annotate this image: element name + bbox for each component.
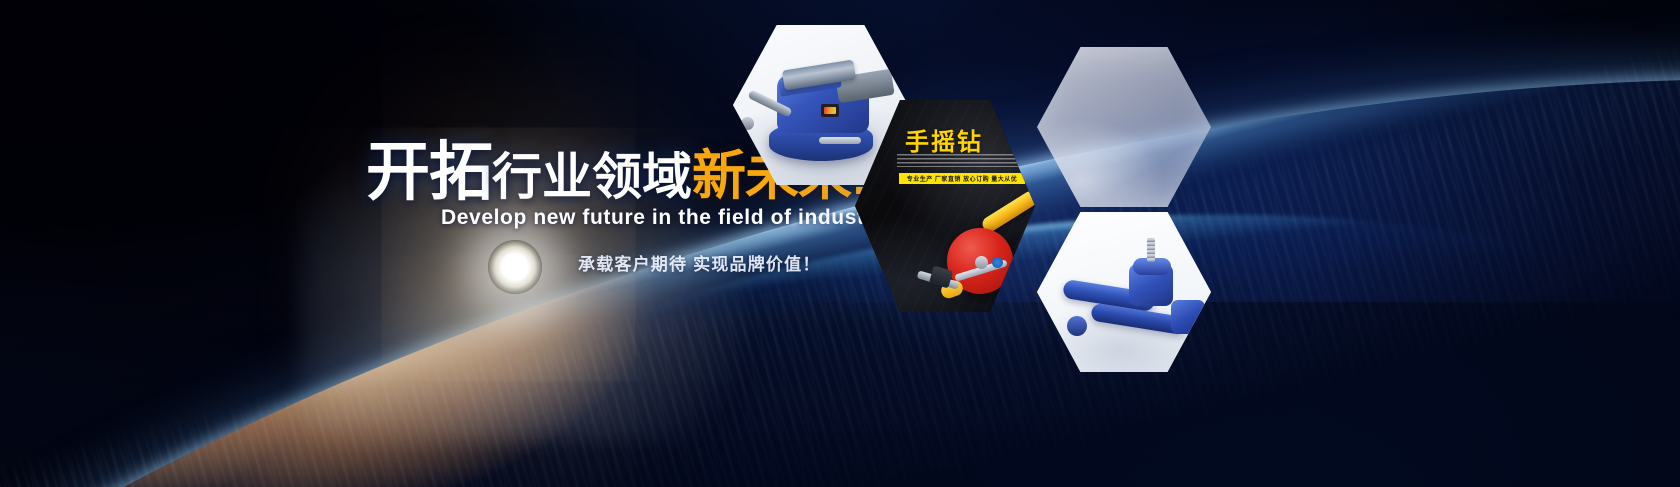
product-description-lines — [897, 154, 1019, 167]
vise-brand-label — [821, 104, 839, 117]
drill-badge-icon — [992, 257, 1003, 268]
headline-part-big: 开拓 — [366, 136, 492, 208]
vise-screw — [819, 137, 861, 144]
subtitle: Develop new future in the field of indus… — [441, 206, 886, 230]
clamp-bolt — [1147, 238, 1155, 262]
clamp-pivot — [1067, 316, 1087, 336]
drill-hub — [975, 256, 988, 269]
tagline: 承载客户期待 实现品牌价值！ — [578, 250, 821, 275]
headline-part-mid: 行业领域 — [492, 149, 692, 205]
product-title: 手摇钻 — [905, 122, 983, 157]
product-feature-strip-label: 专业生产 厂家直销 放心订购 量大从优 — [907, 174, 1018, 183]
hero-banner: 开拓行业领域新未来! Develop new future in the fie… — [0, 0, 1680, 487]
product-feature-strip: 专业生产 厂家直销 放心订购 量大从优 — [899, 173, 1025, 184]
